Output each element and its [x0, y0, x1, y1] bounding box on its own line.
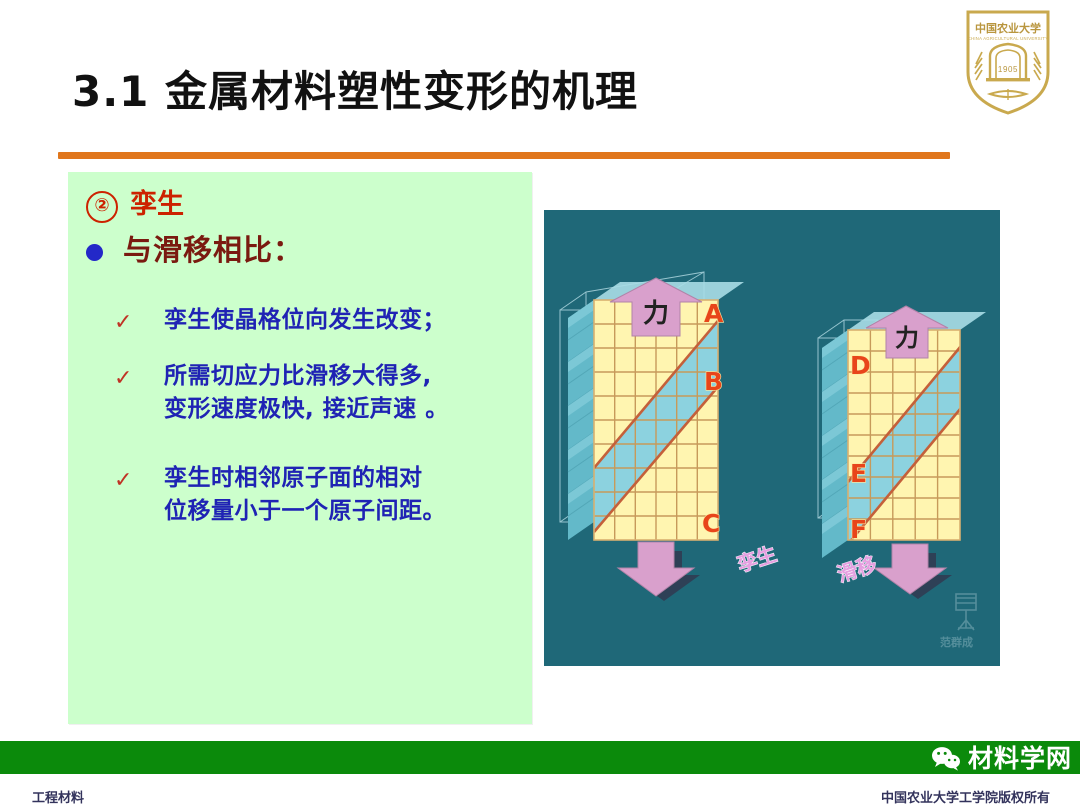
check-icon: ✓	[114, 367, 138, 389]
level1-text: 与滑移相比：	[123, 232, 303, 268]
force-label-left-top: 力	[643, 299, 669, 329]
section-heading-text: 孪生	[130, 189, 184, 220]
label-B: B	[704, 367, 723, 396]
content-panel: ②孪生 与滑移相比： ✓ 孪生使晶格位向发生改变； ✓ 所需切应力比滑移大得多,…	[68, 172, 532, 724]
list-item: ✓ 所需切应力比滑移大得多, 变形速度极快, 接近声速 。	[114, 360, 524, 427]
university-shield-icon: 中国农业大学 CHINA AGRICULTURAL UNIVERSITY 190…	[962, 8, 1054, 116]
slide-title: 3.1 金属材料塑性变形的机理	[72, 58, 638, 119]
list-item-text: 所需切应力比滑移大得多, 变形速度极快, 接近声速 。	[164, 360, 449, 427]
svg-text:中国农业大学: 中国农业大学	[975, 21, 1041, 35]
check-icon: ✓	[114, 311, 138, 333]
svg-text:1905: 1905	[998, 65, 1018, 74]
list-item: ✓ 孪生时相邻原子面的相对 位移量小于一个原子间距。	[114, 462, 524, 529]
label-E: E	[850, 459, 867, 488]
diagram-canvas: A B C 力 孪生	[544, 210, 1000, 666]
label-D: D	[850, 351, 871, 380]
university-logo: 中国农业大学 CHINA AGRICULTURAL UNIVERSITY 190…	[962, 8, 1054, 116]
footer-green-bar	[0, 741, 1080, 774]
left-side-face	[568, 300, 594, 540]
round-bullet-icon	[86, 244, 103, 261]
svg-text:CHINA AGRICULTURAL UNIVERSITY: CHINA AGRICULTURAL UNIVERSITY	[968, 36, 1049, 41]
label-F: F	[850, 515, 867, 544]
label-A: A	[704, 299, 724, 328]
right-side-face	[822, 330, 848, 558]
wechat-account-name: 材料学网	[968, 746, 1072, 771]
check-icon: ✓	[114, 469, 138, 491]
force-label-right-top: 力	[895, 324, 919, 352]
watermark-text: 范群成	[940, 635, 973, 649]
slide-root: 中国农业大学 CHINA AGRICULTURAL UNIVERSITY 190…	[0, 0, 1080, 810]
title-divider	[58, 152, 950, 159]
wechat-badge: 材料学网	[931, 744, 1072, 772]
section-number: ②	[86, 191, 118, 223]
level1-bullet: 与滑移相比：	[86, 232, 506, 268]
label-C: C	[702, 509, 720, 538]
panel-heading: ②孪生	[86, 182, 184, 223]
footer-course-name: 工程材料	[32, 787, 84, 806]
list-item: ✓ 孪生使晶格位向发生改变；	[114, 304, 524, 337]
footer-copyright: 中国农业大学工学院版权所有	[881, 787, 1050, 806]
list-item-text: 孪生使晶格位向发生改变；	[164, 304, 446, 337]
wechat-icon	[931, 746, 961, 771]
crystal-deformation-diagram: A B C 力 孪生	[544, 210, 1000, 666]
list-item-text: 孪生时相邻原子面的相对 位移量小于一个原子间距。	[164, 462, 446, 529]
